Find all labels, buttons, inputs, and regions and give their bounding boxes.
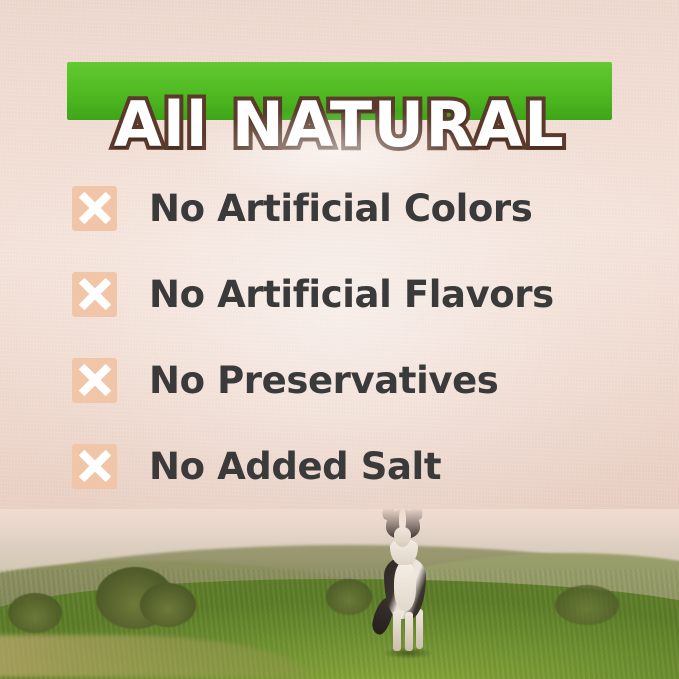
- dog-chest: [394, 561, 416, 611]
- list-item: No Added Salt: [72, 424, 632, 508]
- list-item: No Artificial Flavors: [72, 252, 632, 336]
- bush: [8, 593, 62, 633]
- dog-leg: [405, 612, 413, 651]
- product-infographic: All NATURAL No Artificial Colors No Arti…: [0, 0, 679, 679]
- x-mark-icon: [72, 444, 117, 489]
- claim-label: No Artificial Colors: [149, 187, 532, 230]
- claims-list: No Artificial Colors No Artificial Flavo…: [72, 166, 632, 510]
- claim-label: No Added Salt: [149, 445, 441, 488]
- bush: [555, 585, 619, 625]
- list-item: No Artificial Colors: [72, 166, 632, 250]
- photo-top-fade: [0, 509, 679, 543]
- banner-title: All NATURAL: [67, 94, 612, 156]
- bush: [140, 583, 196, 627]
- dog-leg: [393, 611, 401, 651]
- all-natural-banner: All NATURAL: [67, 62, 612, 120]
- x-mark-icon: [72, 358, 117, 403]
- claim-label: No Preservatives: [149, 359, 498, 402]
- x-mark-icon: [72, 186, 117, 231]
- x-mark-icon: [72, 272, 117, 317]
- claim-label: No Artificial Flavors: [149, 273, 554, 316]
- dog-leg: [416, 609, 423, 649]
- list-item: No Preservatives: [72, 338, 632, 422]
- landscape-photo: [0, 509, 679, 679]
